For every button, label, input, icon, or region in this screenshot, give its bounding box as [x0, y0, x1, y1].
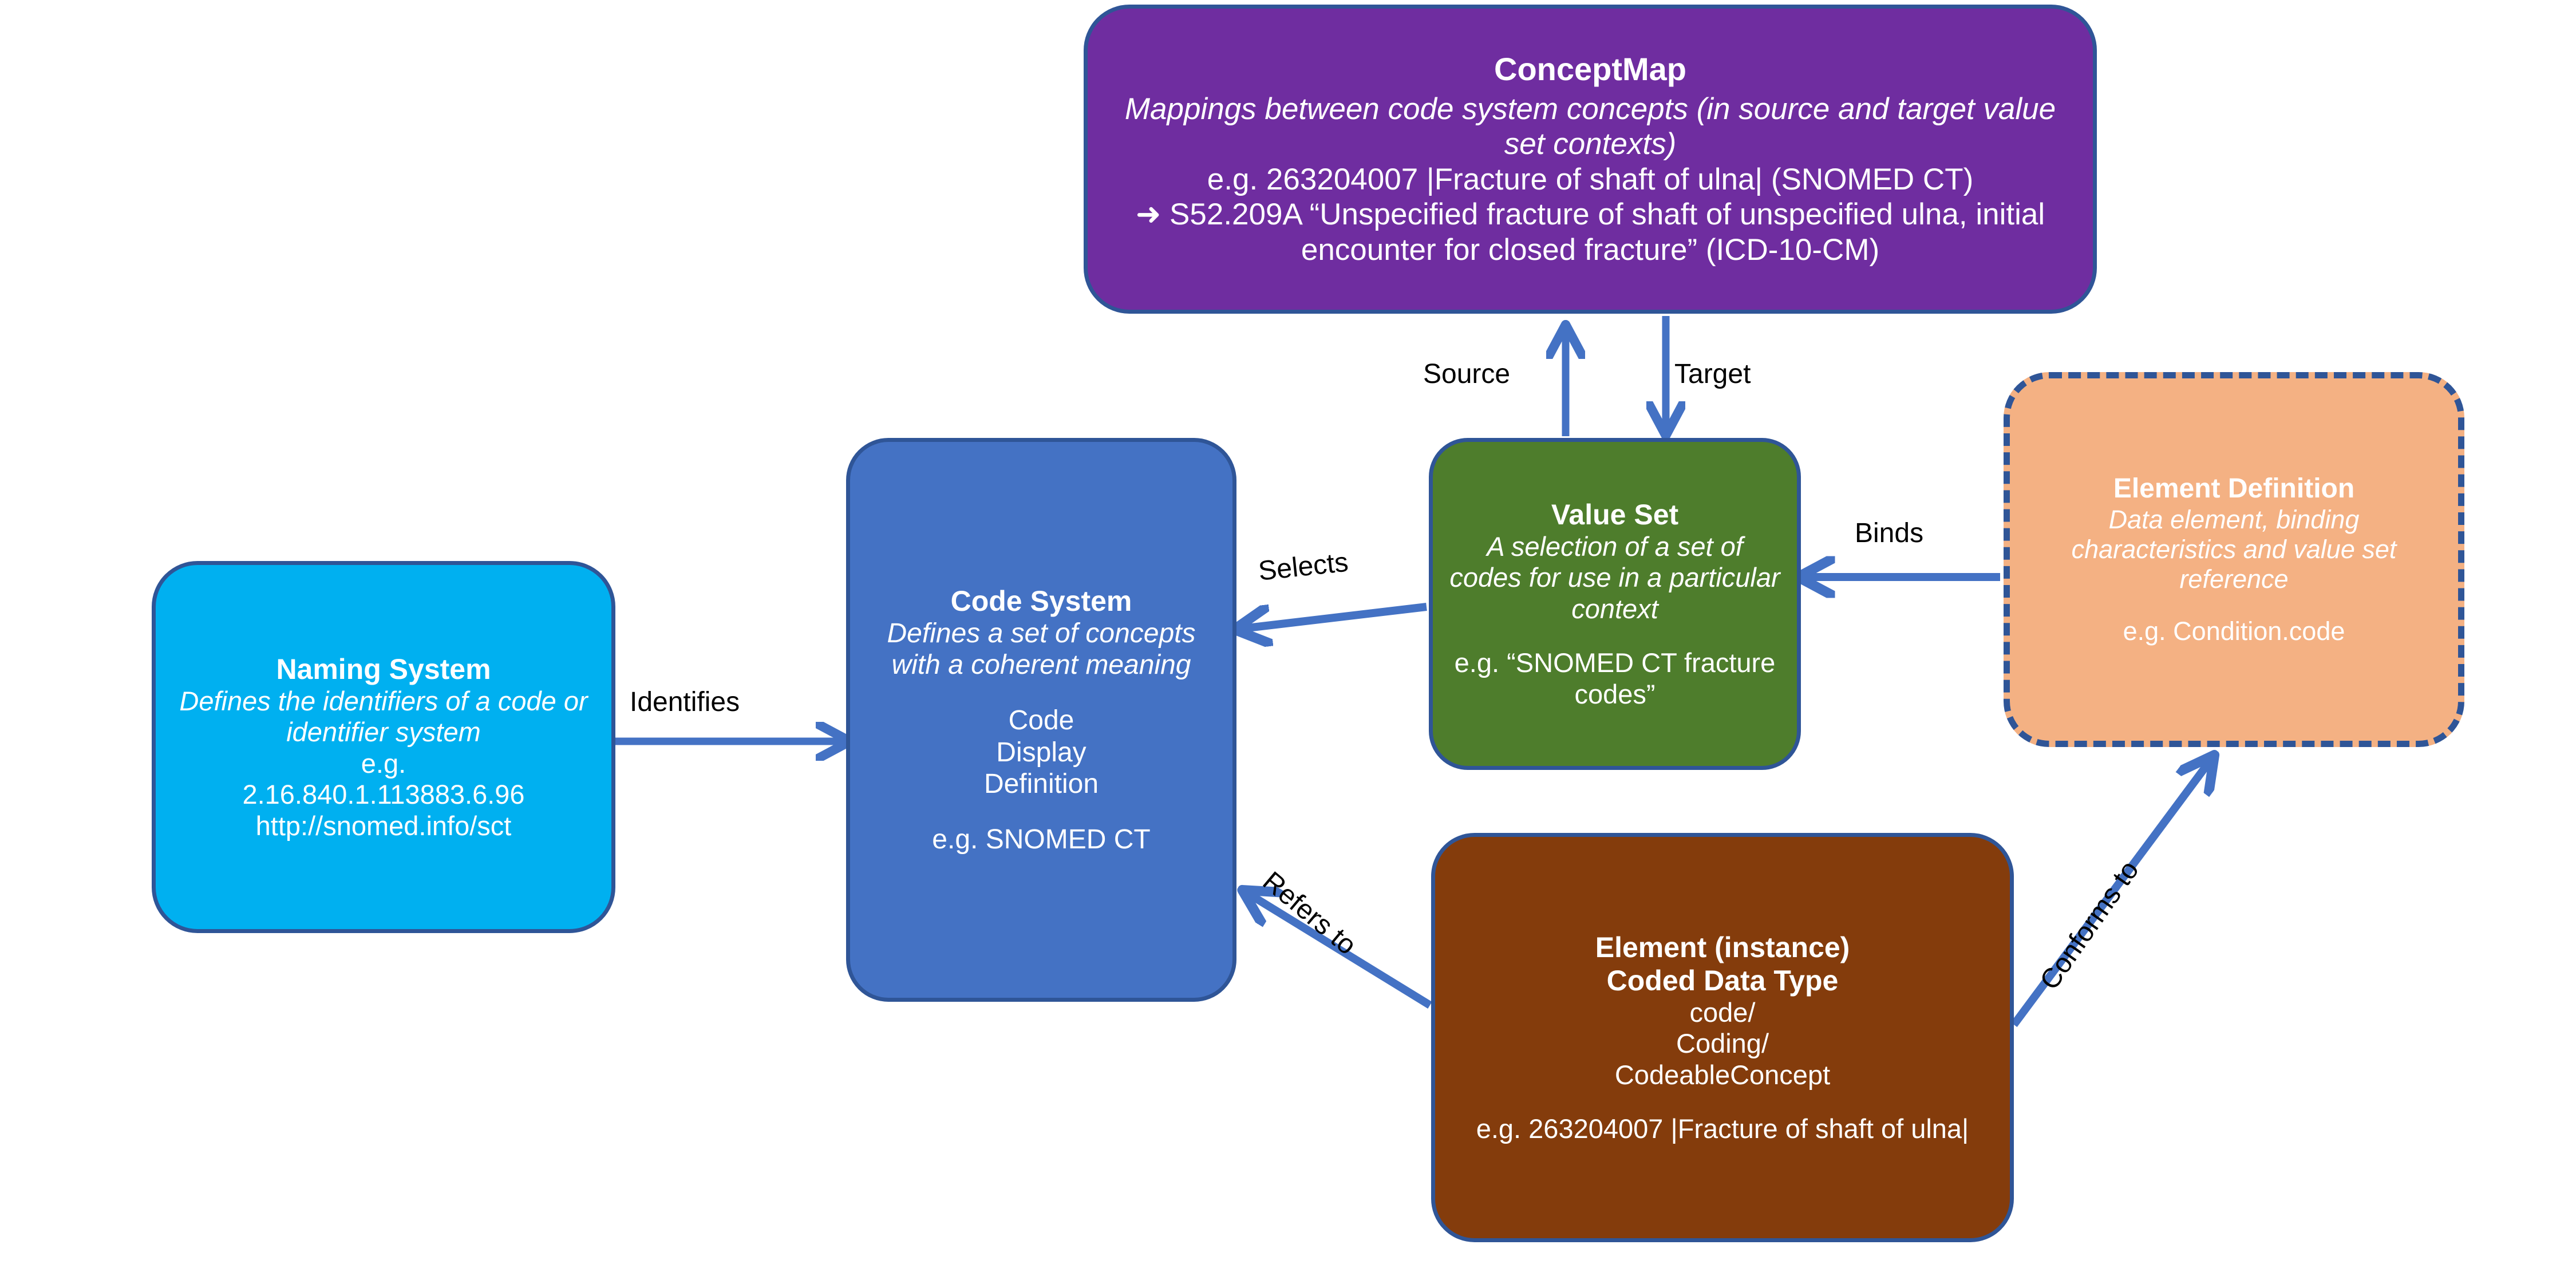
node-code-system[interactable]: Code System Defines a set of concepts wi…	[846, 438, 1236, 1002]
code-system-description: Defines a set of concepts with a coheren…	[865, 618, 1218, 681]
element-definition-title: Element Definition	[2113, 473, 2354, 505]
value-set-title: Value Set	[1551, 498, 1678, 531]
element-instance-title-line-2: Coded Data Type	[1607, 964, 1839, 997]
node-concept-map[interactable]: ConceptMap Mappings between code system …	[1084, 5, 2097, 314]
code-system-property-definition: Definition	[984, 768, 1099, 800]
node-element-instance[interactable]: Element (instance) Coded Data Type code/…	[1431, 833, 2014, 1242]
diagram-canvas: ConceptMap Mappings between code system …	[0, 0, 2576, 1288]
edge-label-conforms-to: Conforms to	[2036, 856, 2144, 995]
node-value-set[interactable]: Value Set A selection of a set of codes …	[1429, 438, 1801, 770]
naming-system-example-label: e.g.	[361, 748, 406, 780]
concept-map-description: Mappings between code system concepts (i…	[1111, 92, 2070, 162]
code-system-property-code: Code	[1009, 705, 1074, 737]
code-system-property-display: Display	[996, 737, 1086, 769]
edge-label-selects: Selects	[1257, 549, 1350, 586]
naming-system-example-uri: http://snomed.info/sct	[256, 811, 512, 842]
edge-label-target: Target	[1674, 361, 1751, 388]
element-instance-type-code: code/	[1690, 997, 1756, 1029]
naming-system-title: Naming System	[276, 653, 491, 686]
concept-map-example-target: ➜ S52.209A “Unspecified fracture of shaf…	[1111, 197, 2070, 267]
element-definition-description: Data element, binding characteristics an…	[2025, 505, 2443, 595]
element-instance-title-line-1: Element (instance)	[1595, 931, 1850, 964]
edge-label-binds: Binds	[1855, 520, 1923, 547]
naming-system-description: Defines the identifiers of a code or ide…	[171, 686, 596, 748]
element-instance-example: e.g. 263204007 |Fracture of shaft of uln…	[1476, 1113, 1969, 1145]
edge-label-identifies: Identifies	[630, 689, 740, 716]
code-system-example: e.g. SNOMED CT	[932, 824, 1150, 856]
element-instance-type-coding: Coding/	[1676, 1028, 1769, 1060]
naming-system-example-oid: 2.16.840.1.113883.6.96	[242, 779, 524, 811]
node-naming-system[interactable]: Naming System Defines the identifiers of…	[152, 561, 615, 933]
element-definition-example: e.g. Condition.code	[2123, 617, 2345, 646]
edge-label-refers-to: Refers to	[1258, 867, 1361, 960]
edge-label-source: Source	[1423, 361, 1510, 388]
element-instance-type-codeableconcept: CodeableConcept	[1615, 1060, 1830, 1091]
edge-selects-line	[1242, 607, 1427, 629]
node-element-definition[interactable]: Element Definition Data element, binding…	[2004, 372, 2464, 747]
concept-map-title: ConceptMap	[1494, 51, 1686, 88]
value-set-example: e.g. “SNOMED CT fracture codes”	[1448, 647, 1782, 710]
concept-map-example-source: e.g. 263204007 |Fracture of shaft of uln…	[1207, 162, 1973, 197]
value-set-description: A selection of a set of codes for use in…	[1448, 531, 1782, 625]
code-system-title: Code System	[951, 584, 1132, 618]
